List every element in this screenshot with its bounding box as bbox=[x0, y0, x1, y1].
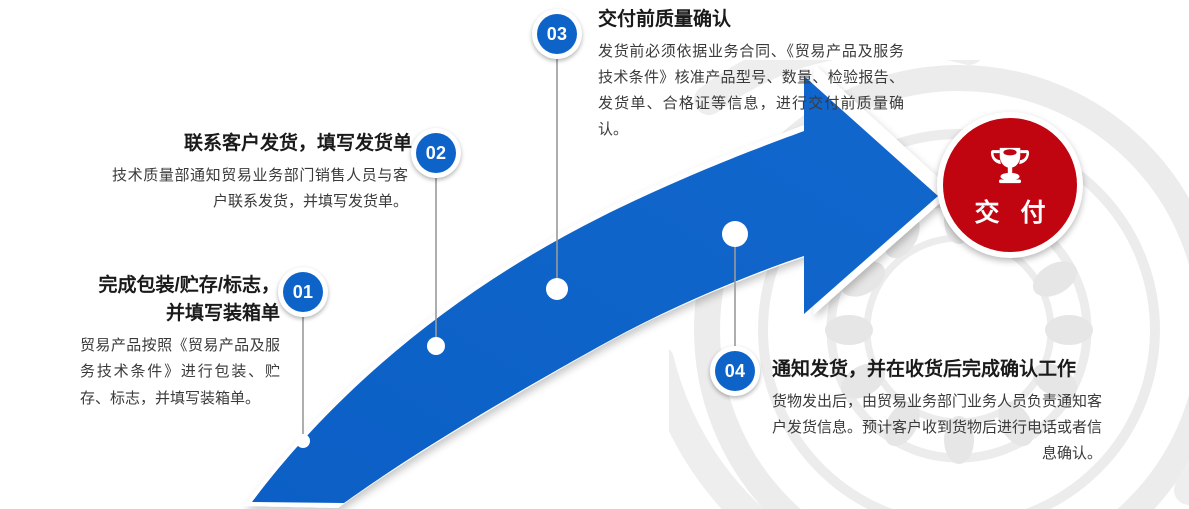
anchor-dot-03 bbox=[546, 278, 568, 300]
step-heading-02: 联系客户发货，填写发货单 bbox=[112, 130, 412, 158]
step-heading-01-line2: 并填写装箱单 bbox=[48, 300, 280, 328]
step-body-03: 发货前必须依据业务合同、《贸易产品及服务技术条件》核准产品型号、数量、检验报告、… bbox=[598, 39, 904, 144]
step-heading-03: 交付前质量确认 bbox=[598, 6, 908, 34]
step-heading-04: 通知发货，并在收货后完成确认工作 bbox=[772, 356, 1106, 384]
goal-disc: 交 付 bbox=[943, 118, 1077, 252]
anchor-dot-04 bbox=[722, 221, 748, 247]
anchor-dot-01 bbox=[296, 434, 310, 448]
step-badge-01[interactable]: 01 bbox=[278, 267, 328, 317]
goal-label: 交 付 bbox=[968, 193, 1053, 229]
step-heading-01: 完成包装/贮存/标志， 并填写装箱单 bbox=[48, 272, 280, 327]
step-body-02: 技术质量部通知贸易业务部门销售人员与客户联系发货，并填写发货单。 bbox=[112, 163, 408, 216]
step-badge-02[interactable]: 02 bbox=[411, 128, 461, 178]
step-number-03: 03 bbox=[537, 14, 577, 54]
step-number-04: 04 bbox=[715, 351, 755, 391]
step-text-01: 完成包装/贮存/标志， 并填写装箱单 贸易产品按照《贸易产品及服务技术条件》进行… bbox=[48, 272, 280, 412]
goal-delivery-circle[interactable]: 交 付 bbox=[937, 112, 1083, 258]
step-number-02: 02 bbox=[416, 133, 456, 173]
step-badge-04[interactable]: 04 bbox=[710, 346, 760, 396]
step-body-01: 贸易产品按照《贸易产品及服务技术条件》进行包装、贮存、标志，并填写装箱单。 bbox=[80, 333, 280, 412]
process-flow-diagram: 01 完成包装/贮存/标志， 并填写装箱单 贸易产品按照《贸易产品及服务技术条件… bbox=[0, 0, 1189, 509]
step-number-01: 01 bbox=[283, 272, 323, 312]
trophy-icon bbox=[986, 145, 1034, 189]
step-heading-01-line1: 完成包装/贮存/标志， bbox=[48, 272, 280, 300]
step-body-04: 货物发出后，由贸易业务部门业务人员负责通知客户发货信息。预计客户收到货物后进行电… bbox=[772, 389, 1102, 468]
step-text-03: 交付前质量确认 发货前必须依据业务合同、《贸易产品及服务技术条件》核准产品型号、… bbox=[598, 6, 908, 144]
anchor-dot-02 bbox=[427, 337, 445, 355]
step-text-04: 通知发货，并在收货后完成确认工作 货物发出后，由贸易业务部门业务人员负责通知客户… bbox=[772, 356, 1106, 467]
step-badge-03[interactable]: 03 bbox=[532, 9, 582, 59]
step-text-02: 联系客户发货，填写发货单 技术质量部通知贸易业务部门销售人员与客户联系发货，并填… bbox=[112, 130, 412, 215]
